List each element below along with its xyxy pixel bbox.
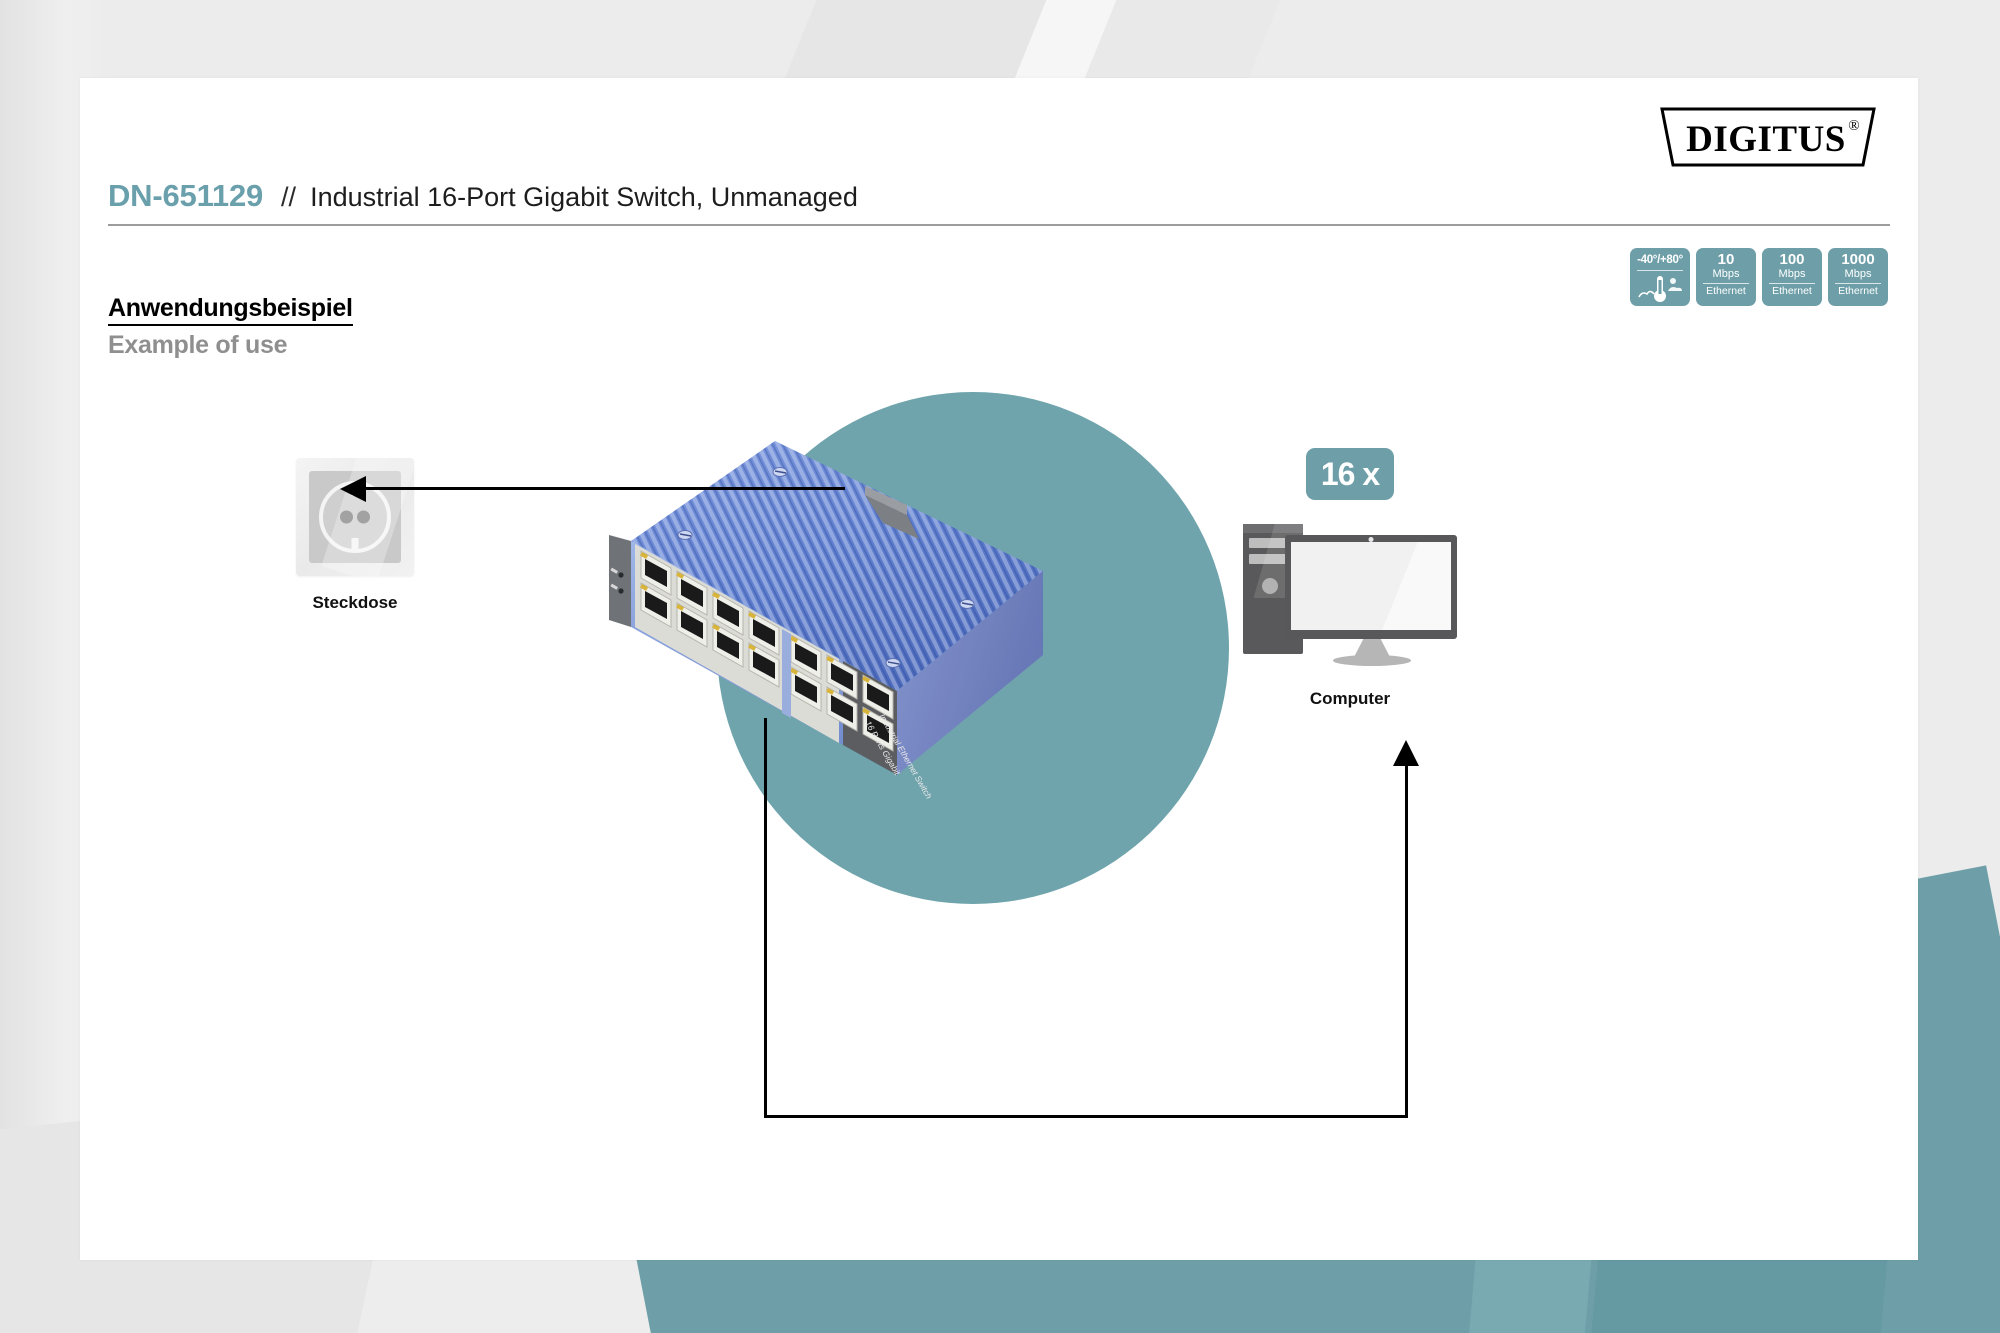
port-count-badge: 16 x [1306,448,1394,500]
page-title: DN-651129 // Industrial 16-Port Gigabit … [108,178,858,214]
badge-speed-unit: Mbps [1845,268,1872,281]
screen-gloss [1359,542,1451,630]
digitus-logo: DIGITUS ® [1658,106,1878,168]
badge-temperature-range: -40°/+80° [1630,248,1690,306]
computer-icon [1235,524,1465,672]
content-card: DIGITUS ® DN-651129 // Industrial 16-Por… [80,78,1918,1260]
badge-speed-unit: Mbps [1713,268,1740,281]
connector-socket-line [365,487,845,490]
computer-node: 16 x Computer [1220,448,1480,709]
badge-rule [1703,283,1749,284]
socket-label: Steckdose [265,593,445,613]
monitor-screen [1291,542,1451,630]
badge-speed-value: 100 [1779,252,1804,268]
logo-registered-icon: ® [1848,118,1859,134]
section-heading-en: Example of use [108,331,353,360]
badge-speed-unit: Mbps [1779,268,1806,281]
title-divider [108,224,1890,226]
badge-speed-value: 10 [1718,252,1735,268]
badge-standard: Ethernet [1772,285,1812,297]
badge-standard: Ethernet [1706,285,1746,297]
thermometer-weather-icon [1635,273,1685,303]
title-separator: // [281,182,296,213]
section-heading: Anwendungsbeispiel Example of use [108,294,353,360]
badge-rule [1637,270,1683,271]
computer-label: Computer [1220,689,1480,709]
badge-speed-value: 1000 [1841,252,1874,268]
section-heading-de: Anwendungsbeispiel [108,294,353,326]
badge-standard: Ethernet [1838,285,1878,297]
connector-computer-line-horizontal [764,1115,1408,1118]
connector-computer-line-vertical-right [1405,764,1408,1118]
monitor-base [1333,655,1411,666]
badge-temp-value: -40°/+80° [1637,252,1683,268]
badge-rule [1835,283,1881,284]
feature-badges: -40°/+80° 10 Mbps Ethernet 100 Mbps Ethe… [1630,248,1888,306]
badge-ethernet-10: 10 Mbps Ethernet [1696,248,1756,306]
badge-ethernet-100: 100 Mbps Ethernet [1762,248,1822,306]
connector-computer-line-vertical-left [764,718,767,1118]
badge-rule [1769,283,1815,284]
logo-wordmark: DIGITUS [1686,119,1846,160]
connector-socket-arrowhead [340,476,366,502]
badge-ethernet-1000: 1000 Mbps Ethernet [1828,248,1888,306]
industrial-switch-device: 16 Ports Gigabit Industrial Ethernet Swi… [535,423,1055,823]
product-sku: DN-651129 [108,178,263,214]
monitor-icon [1285,535,1457,639]
product-title: Industrial 16-Port Gigabit Switch, Unman… [310,182,858,213]
connector-computer-arrowhead [1393,740,1419,766]
